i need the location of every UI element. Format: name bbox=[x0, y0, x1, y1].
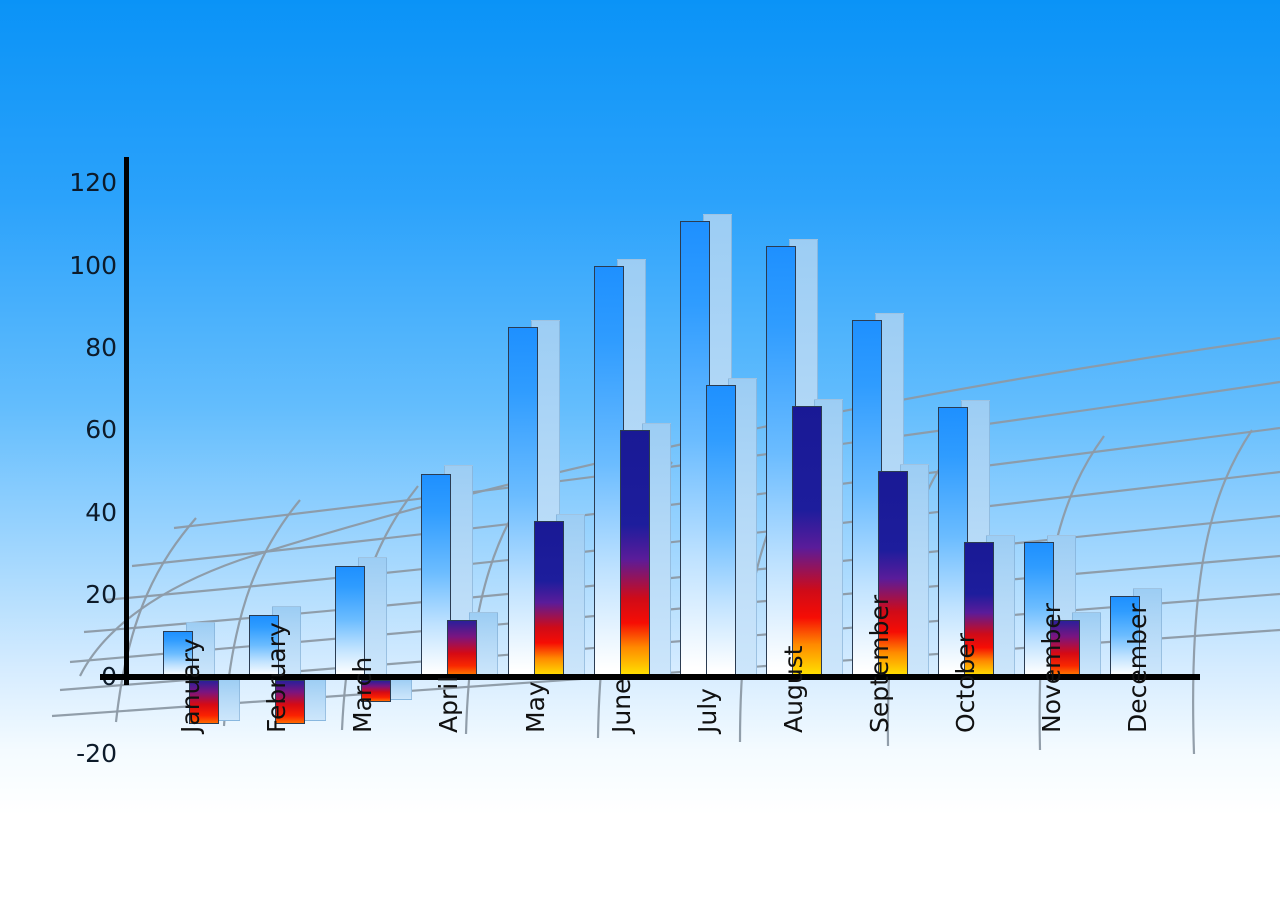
y-tick-label-20: 20 bbox=[47, 580, 117, 609]
y-tick-label-120: 120 bbox=[47, 168, 117, 197]
x-tick-label-june: June bbox=[607, 679, 636, 733]
x-tick-label-november: November bbox=[1037, 603, 1066, 733]
y-axis-line bbox=[124, 157, 129, 685]
y-tick-label-40: 40 bbox=[47, 498, 117, 527]
plot-area: 120 100 80 60 40 20 0 -20 bbox=[0, 0, 1280, 905]
x-tick-label-october: October bbox=[951, 633, 980, 733]
x-tick-label-january: January bbox=[176, 638, 205, 733]
chart-canvas: 120 100 80 60 40 20 0 -20 bbox=[0, 0, 1280, 905]
x-tick-label-march: March bbox=[348, 657, 377, 733]
y-tick-label-100: 100 bbox=[47, 251, 117, 280]
x-tick-label-may: May bbox=[521, 681, 550, 733]
bar-april-series-2 bbox=[447, 620, 477, 678]
y-tick-label-80: 80 bbox=[47, 333, 117, 362]
bar-july-series-2 bbox=[706, 385, 736, 678]
x-tick-label-april: April bbox=[434, 676, 463, 733]
bar-august-series-2 bbox=[792, 406, 822, 678]
y-tick-label-60: 60 bbox=[47, 415, 117, 444]
x-tick-label-july: July bbox=[693, 688, 722, 733]
bar-may-series-2 bbox=[534, 521, 564, 678]
x-tick-label-september: September bbox=[865, 595, 894, 733]
x-tick-label-february: February bbox=[262, 622, 291, 733]
bar-june-series-2 bbox=[620, 430, 650, 678]
x-tick-label-august: August bbox=[779, 646, 808, 734]
y-tick-label--20: -20 bbox=[47, 739, 117, 768]
x-tick-label-december: December bbox=[1123, 603, 1152, 733]
